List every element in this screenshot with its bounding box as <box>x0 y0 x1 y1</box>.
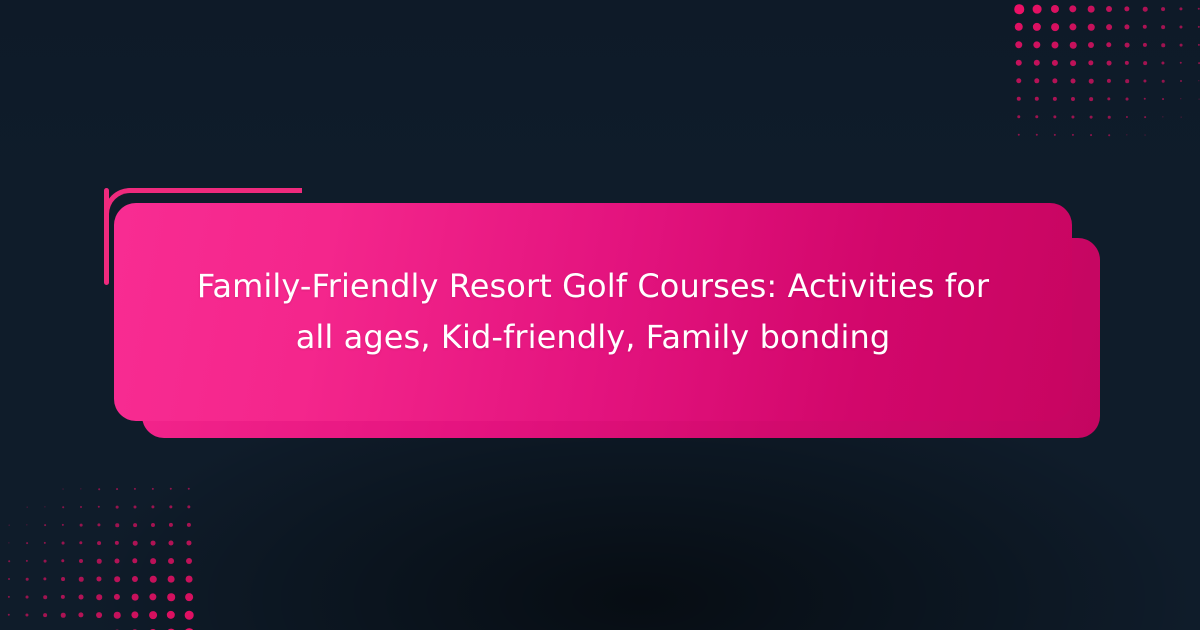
decorative-outline-cap-bottom <box>104 262 109 280</box>
decorative-outline-cap-right <box>284 188 302 193</box>
page-title: Family-Friendly Resort Golf Courses: Act… <box>183 261 1003 363</box>
title-card: Family-Friendly Resort Golf Courses: Act… <box>114 203 1072 421</box>
og-image-canvas: Family-Friendly Resort Golf Courses: Act… <box>0 0 1200 630</box>
